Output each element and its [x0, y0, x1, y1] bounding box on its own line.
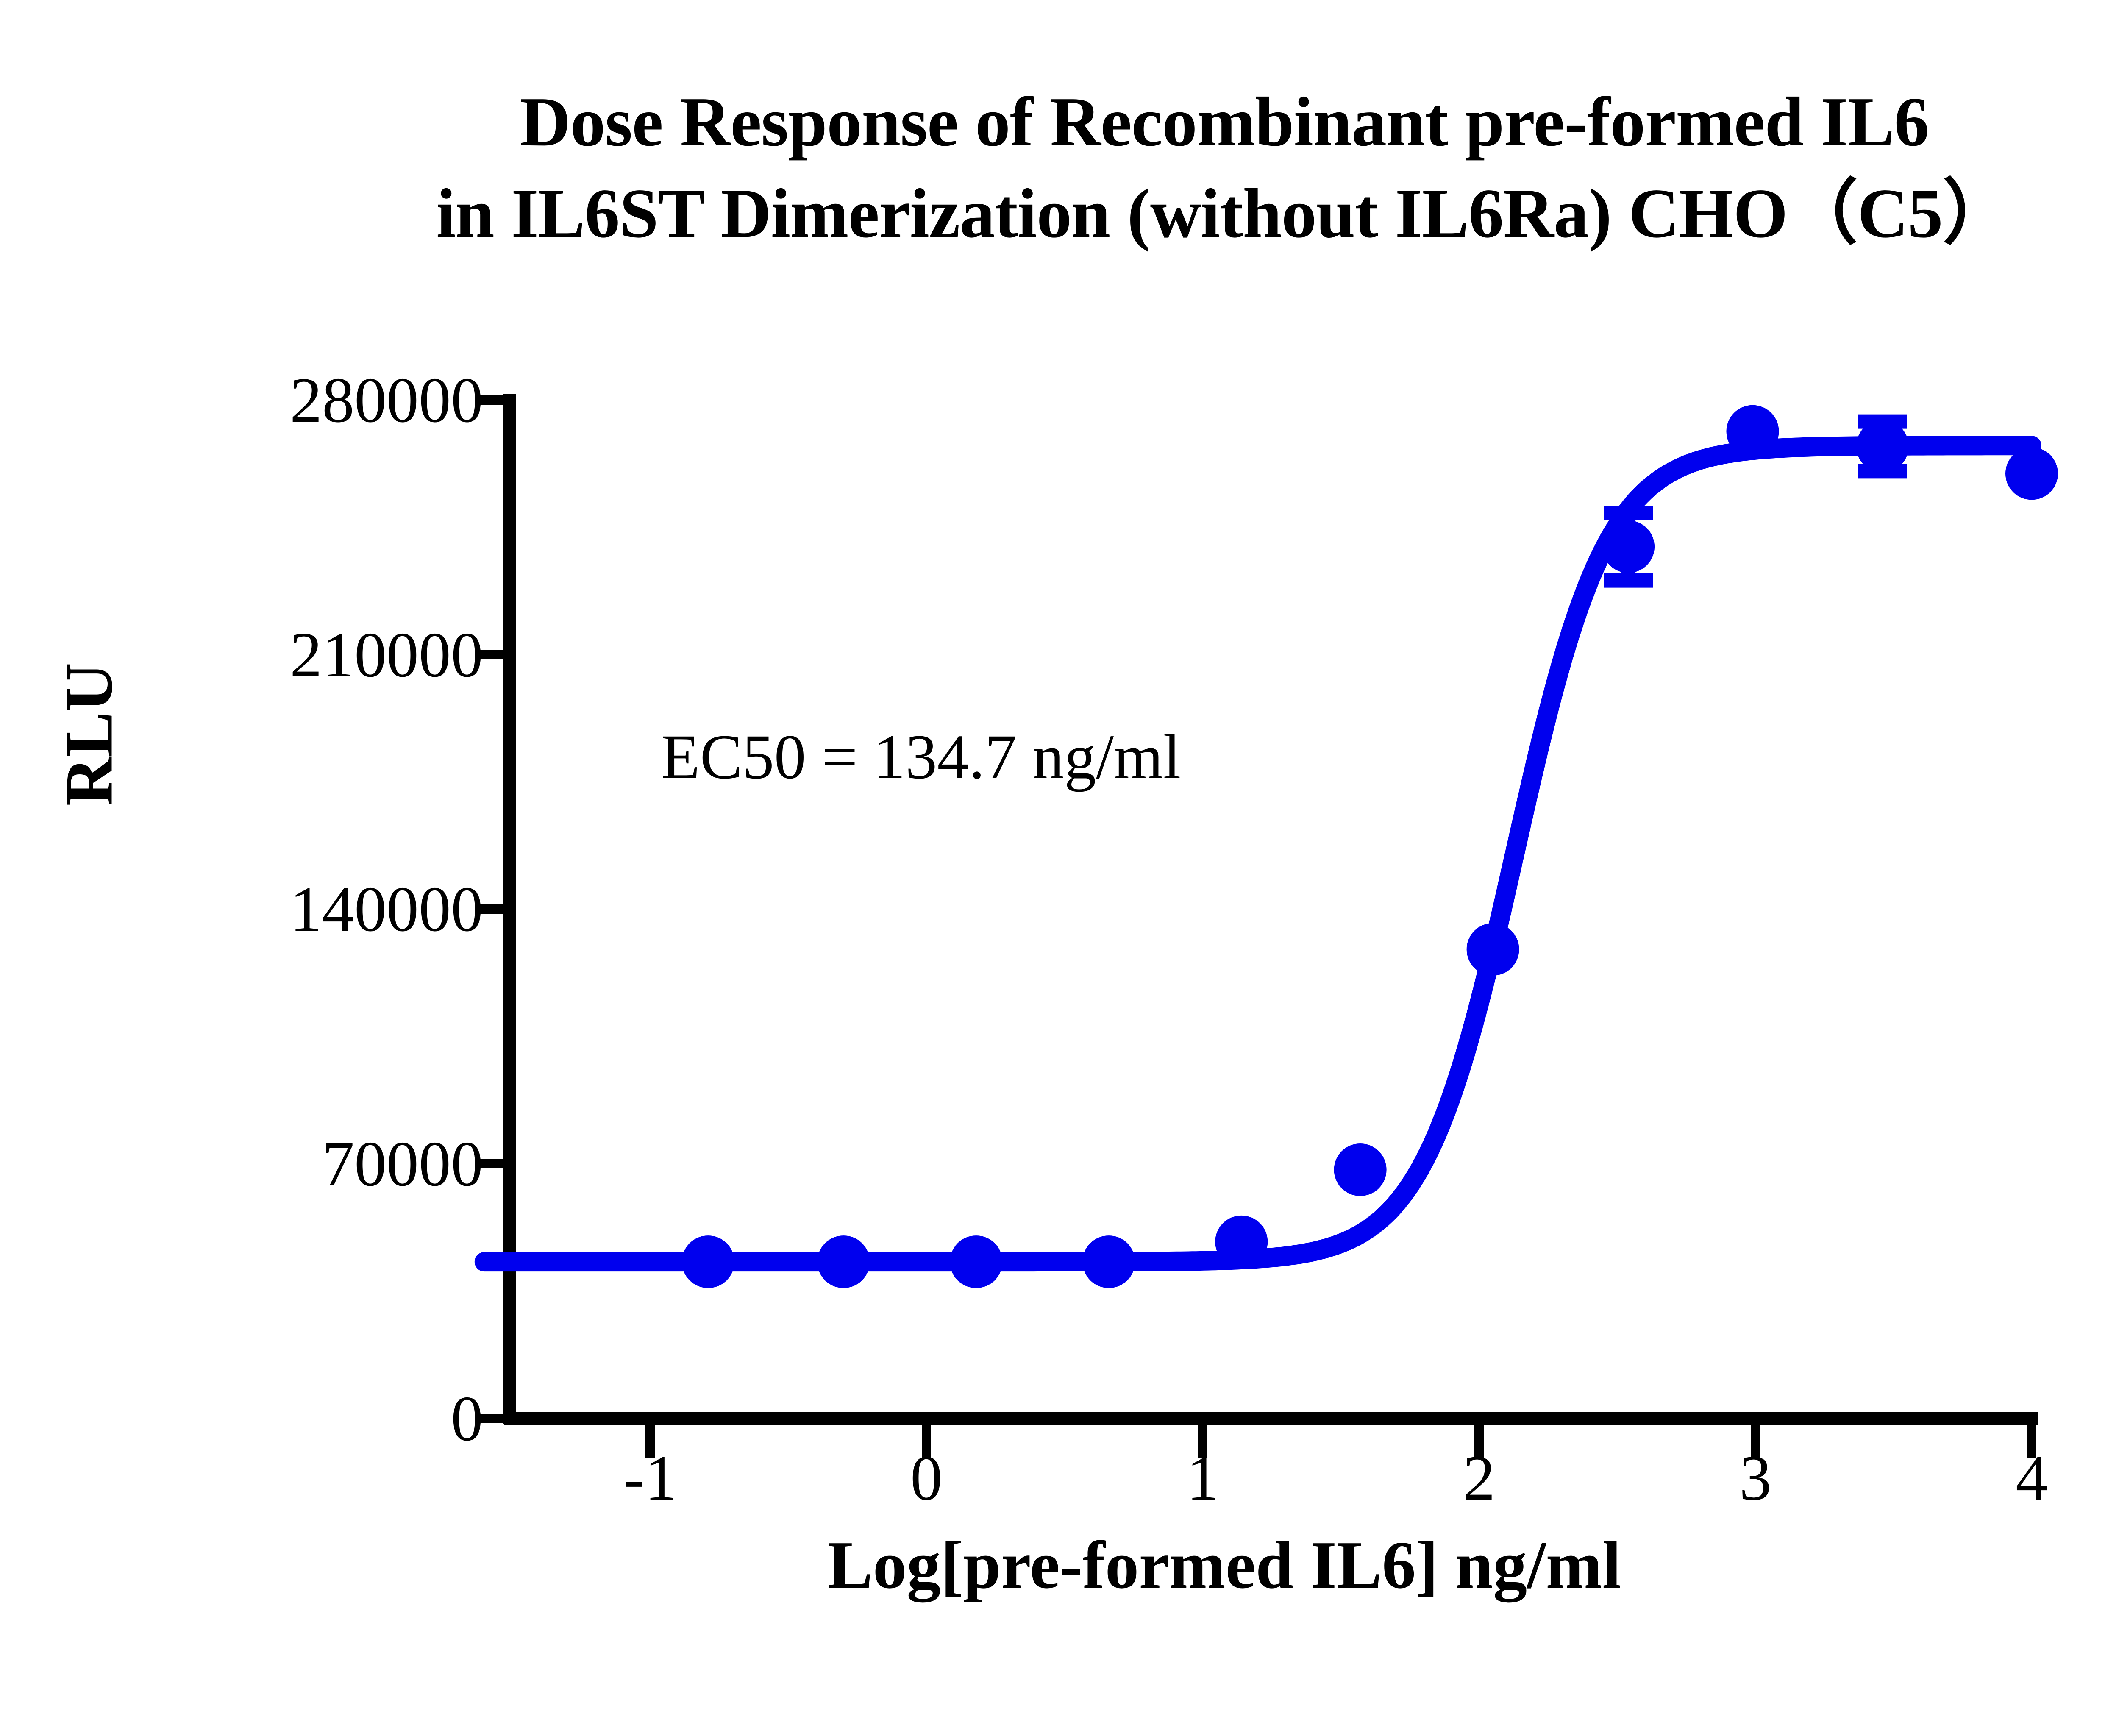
data-point [682, 1235, 734, 1288]
data-point [1856, 420, 1909, 473]
dose-response-fit-curve [484, 445, 2032, 1262]
plot-canvas [0, 0, 2119, 1736]
data-point [1602, 520, 1655, 573]
data-point [1334, 1143, 1387, 1196]
data-point-markers [682, 405, 2058, 1288]
data-point [1215, 1216, 1268, 1268]
axis-group [477, 394, 2038, 1458]
data-point [2005, 447, 2058, 500]
data-point [950, 1235, 1002, 1288]
figure-root: Dose Response of Recombinant pre-formed … [0, 0, 2119, 1736]
data-point [1467, 923, 1519, 976]
data-point [1726, 405, 1779, 458]
data-point [1082, 1235, 1135, 1288]
series-group [484, 405, 2058, 1288]
data-point [817, 1235, 870, 1288]
